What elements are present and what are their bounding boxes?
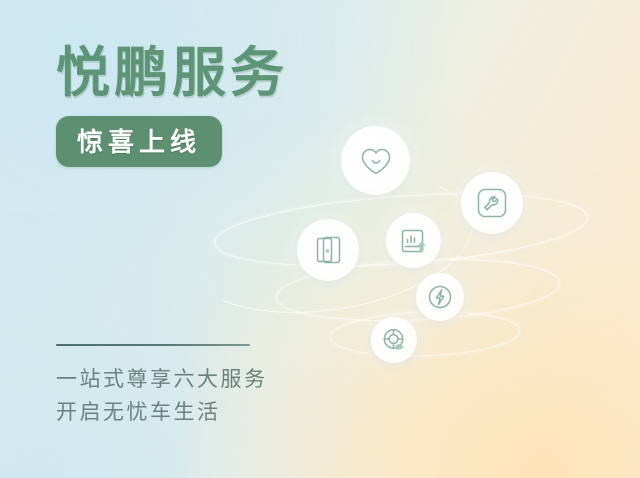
door-card-icon	[309, 231, 347, 269]
icon-bubble-lightning[interactable]	[416, 273, 464, 321]
tagline-line-1: 一站式尊享六大服务	[56, 363, 376, 396]
tire-wheel-icon	[380, 326, 409, 355]
headline-block: 悦鹏服务 惊喜上线	[56, 45, 356, 167]
icon-bubble-tire[interactable]	[371, 317, 417, 363]
icon-bubble-door-card[interactable]	[297, 219, 359, 281]
promo-poster: 悦鹏服务 惊喜上线 一站式尊享六大服务 开启无忧车生活	[0, 0, 640, 478]
report-chart-icon	[397, 224, 431, 258]
tagline-block: 一站式尊享六大服务 开启无忧车生活	[56, 344, 376, 429]
tagline-line-2: 开启无忧车生活	[56, 396, 376, 429]
heart-smile-icon	[356, 141, 396, 181]
icon-bubble-heart-smile[interactable]	[341, 126, 410, 195]
tagline: 一站式尊享六大服务 开启无忧车生活	[56, 363, 376, 429]
page-title: 悦鹏服务	[56, 45, 356, 102]
wrench-square-icon	[473, 184, 511, 222]
icon-bubble-report-chart[interactable]	[386, 213, 441, 268]
status-badge: 惊喜上线	[56, 116, 222, 167]
divider	[56, 344, 250, 346]
icon-bubble-wrench[interactable]	[461, 172, 523, 234]
lightning-bolt-icon	[425, 282, 455, 312]
